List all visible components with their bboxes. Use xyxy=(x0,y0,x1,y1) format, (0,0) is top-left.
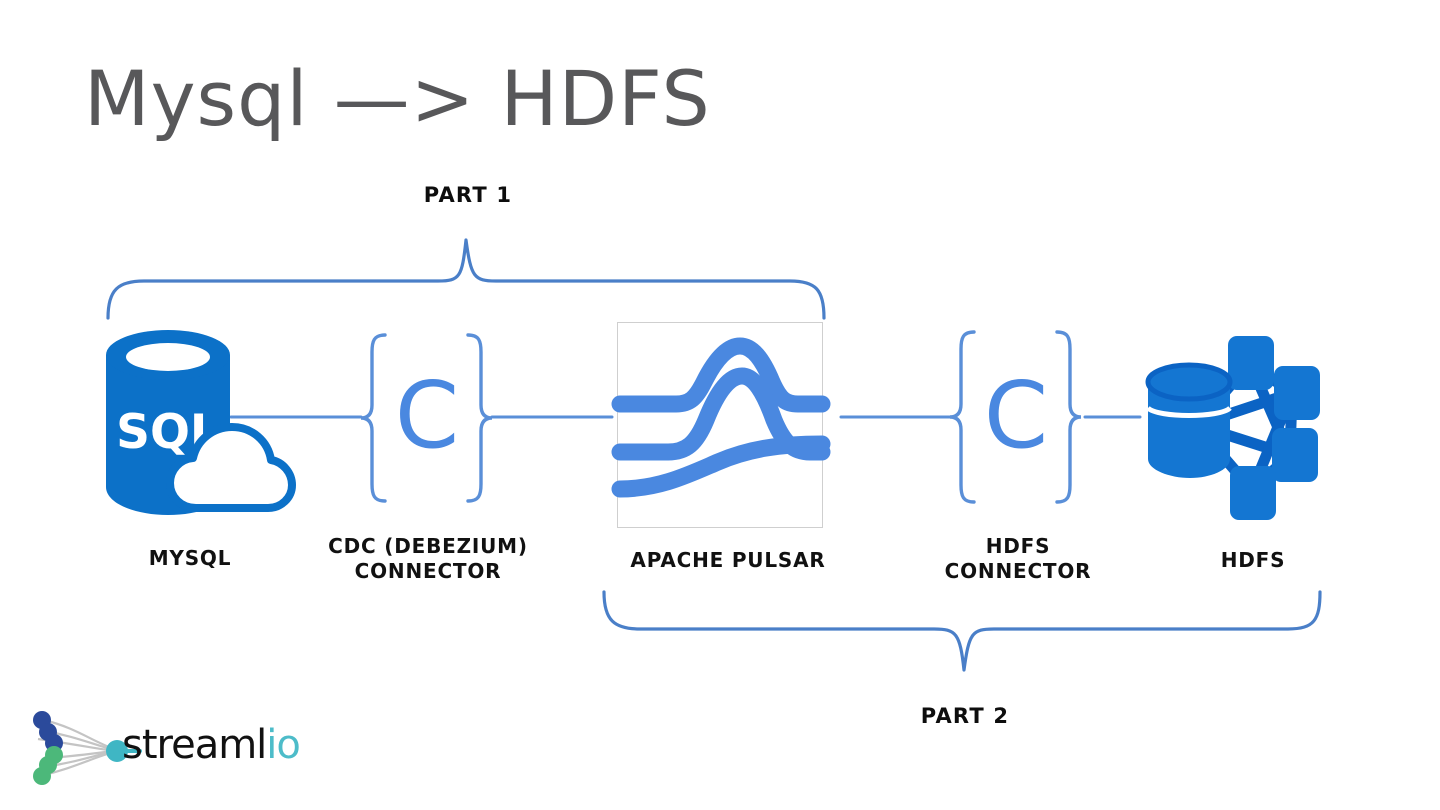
logo-wordmark[interactable]: streamlio xyxy=(122,722,300,768)
node-label-cdc-connector: CDC (DEBEZIUM) CONNECTOR xyxy=(320,534,536,584)
slide-canvas: Mysql —> HDFS PART 1 PART 2 SQL xyxy=(0,0,1440,810)
hdfs-cluster-icon[interactable] xyxy=(0,0,1440,810)
hdfs-storage-cylinder xyxy=(1148,365,1230,478)
logo-navy-dots xyxy=(33,711,63,752)
node-label-apache-pulsar: APACHE PULSAR xyxy=(600,548,856,573)
node-label-hdfs-connector: HDFS CONNECTOR xyxy=(910,534,1126,584)
logo-wordmark-primary: streaml xyxy=(122,722,266,768)
node-label-mysql: MYSQL xyxy=(100,546,280,571)
logo-wordmark-accent: io xyxy=(266,722,300,768)
node-label-hdfs: HDFS xyxy=(1160,548,1346,573)
